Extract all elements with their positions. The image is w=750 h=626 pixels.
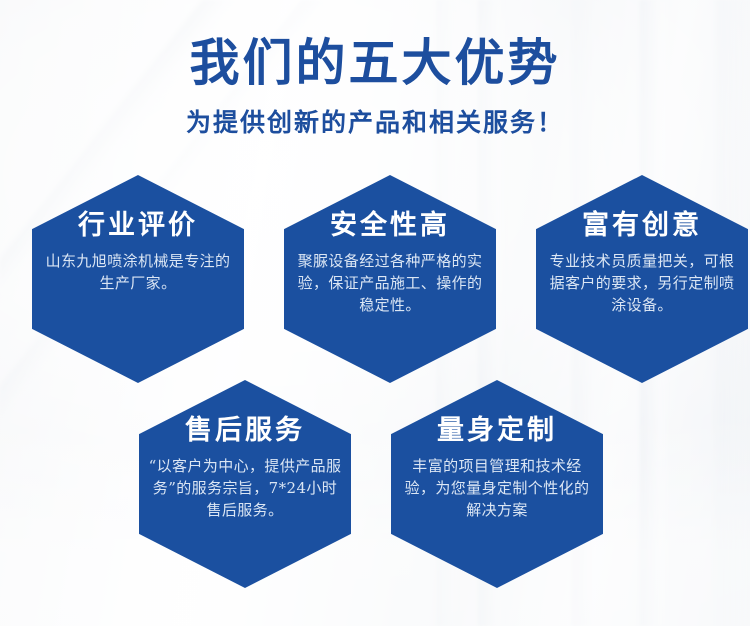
advantage-title: 量身定制 <box>437 416 557 446</box>
advantage-card-high-safety[interactable]: 安全性高 聚脲设备经过各种严格的实验，保证产品施工、操作的稳定性。 <box>284 175 496 383</box>
advantage-body: 山东九旭喷涂机械是专注的生产厂家。 <box>45 250 231 294</box>
heading-block: 我们的五大优势 为提供创新的产品和相关服务！ <box>0 38 750 135</box>
advantage-body: “以客户为中心，提供产品服务”的服务宗旨，7*24小时售后服务。 <box>147 455 343 522</box>
page-title: 我们的五大优势 <box>0 38 750 88</box>
advantage-body: 丰富的项目管理和技术经验，为您量身定制个性化的解决方案 <box>399 455 595 522</box>
advantages-banner: 我们的五大优势 为提供创新的产品和相关服务！ 行业评价 山东九旭喷涂机械是专注的… <box>0 0 750 626</box>
advantage-card-tailor-made[interactable]: 量身定制 丰富的项目管理和技术经验，为您量身定制个性化的解决方案 <box>391 380 603 588</box>
page-subtitle: 为提供创新的产品和相关服务！ <box>0 110 750 135</box>
advantage-body: 聚脲设备经过各种严格的实验，保证产品施工、操作的稳定性。 <box>297 250 483 317</box>
advantage-card-creative[interactable]: 富有创意 专业技术员质量把关，可根据客户的要求，另行定制喷涂设备。 <box>536 175 748 383</box>
advantage-title: 富有创意 <box>582 211 702 241</box>
advantage-title: 售后服务 <box>185 416 305 446</box>
advantage-body: 专业技术员质量把关，可根据客户的要求，另行定制喷涂设备。 <box>549 250 735 317</box>
advantage-card-after-sales[interactable]: 售后服务 “以客户为中心，提供产品服务”的服务宗旨，7*24小时售后服务。 <box>139 380 351 588</box>
advantage-card-industry-reputation[interactable]: 行业评价 山东九旭喷涂机械是专注的生产厂家。 <box>32 175 244 383</box>
advantage-title: 安全性高 <box>330 211 450 241</box>
advantage-title: 行业评价 <box>78 211 198 241</box>
